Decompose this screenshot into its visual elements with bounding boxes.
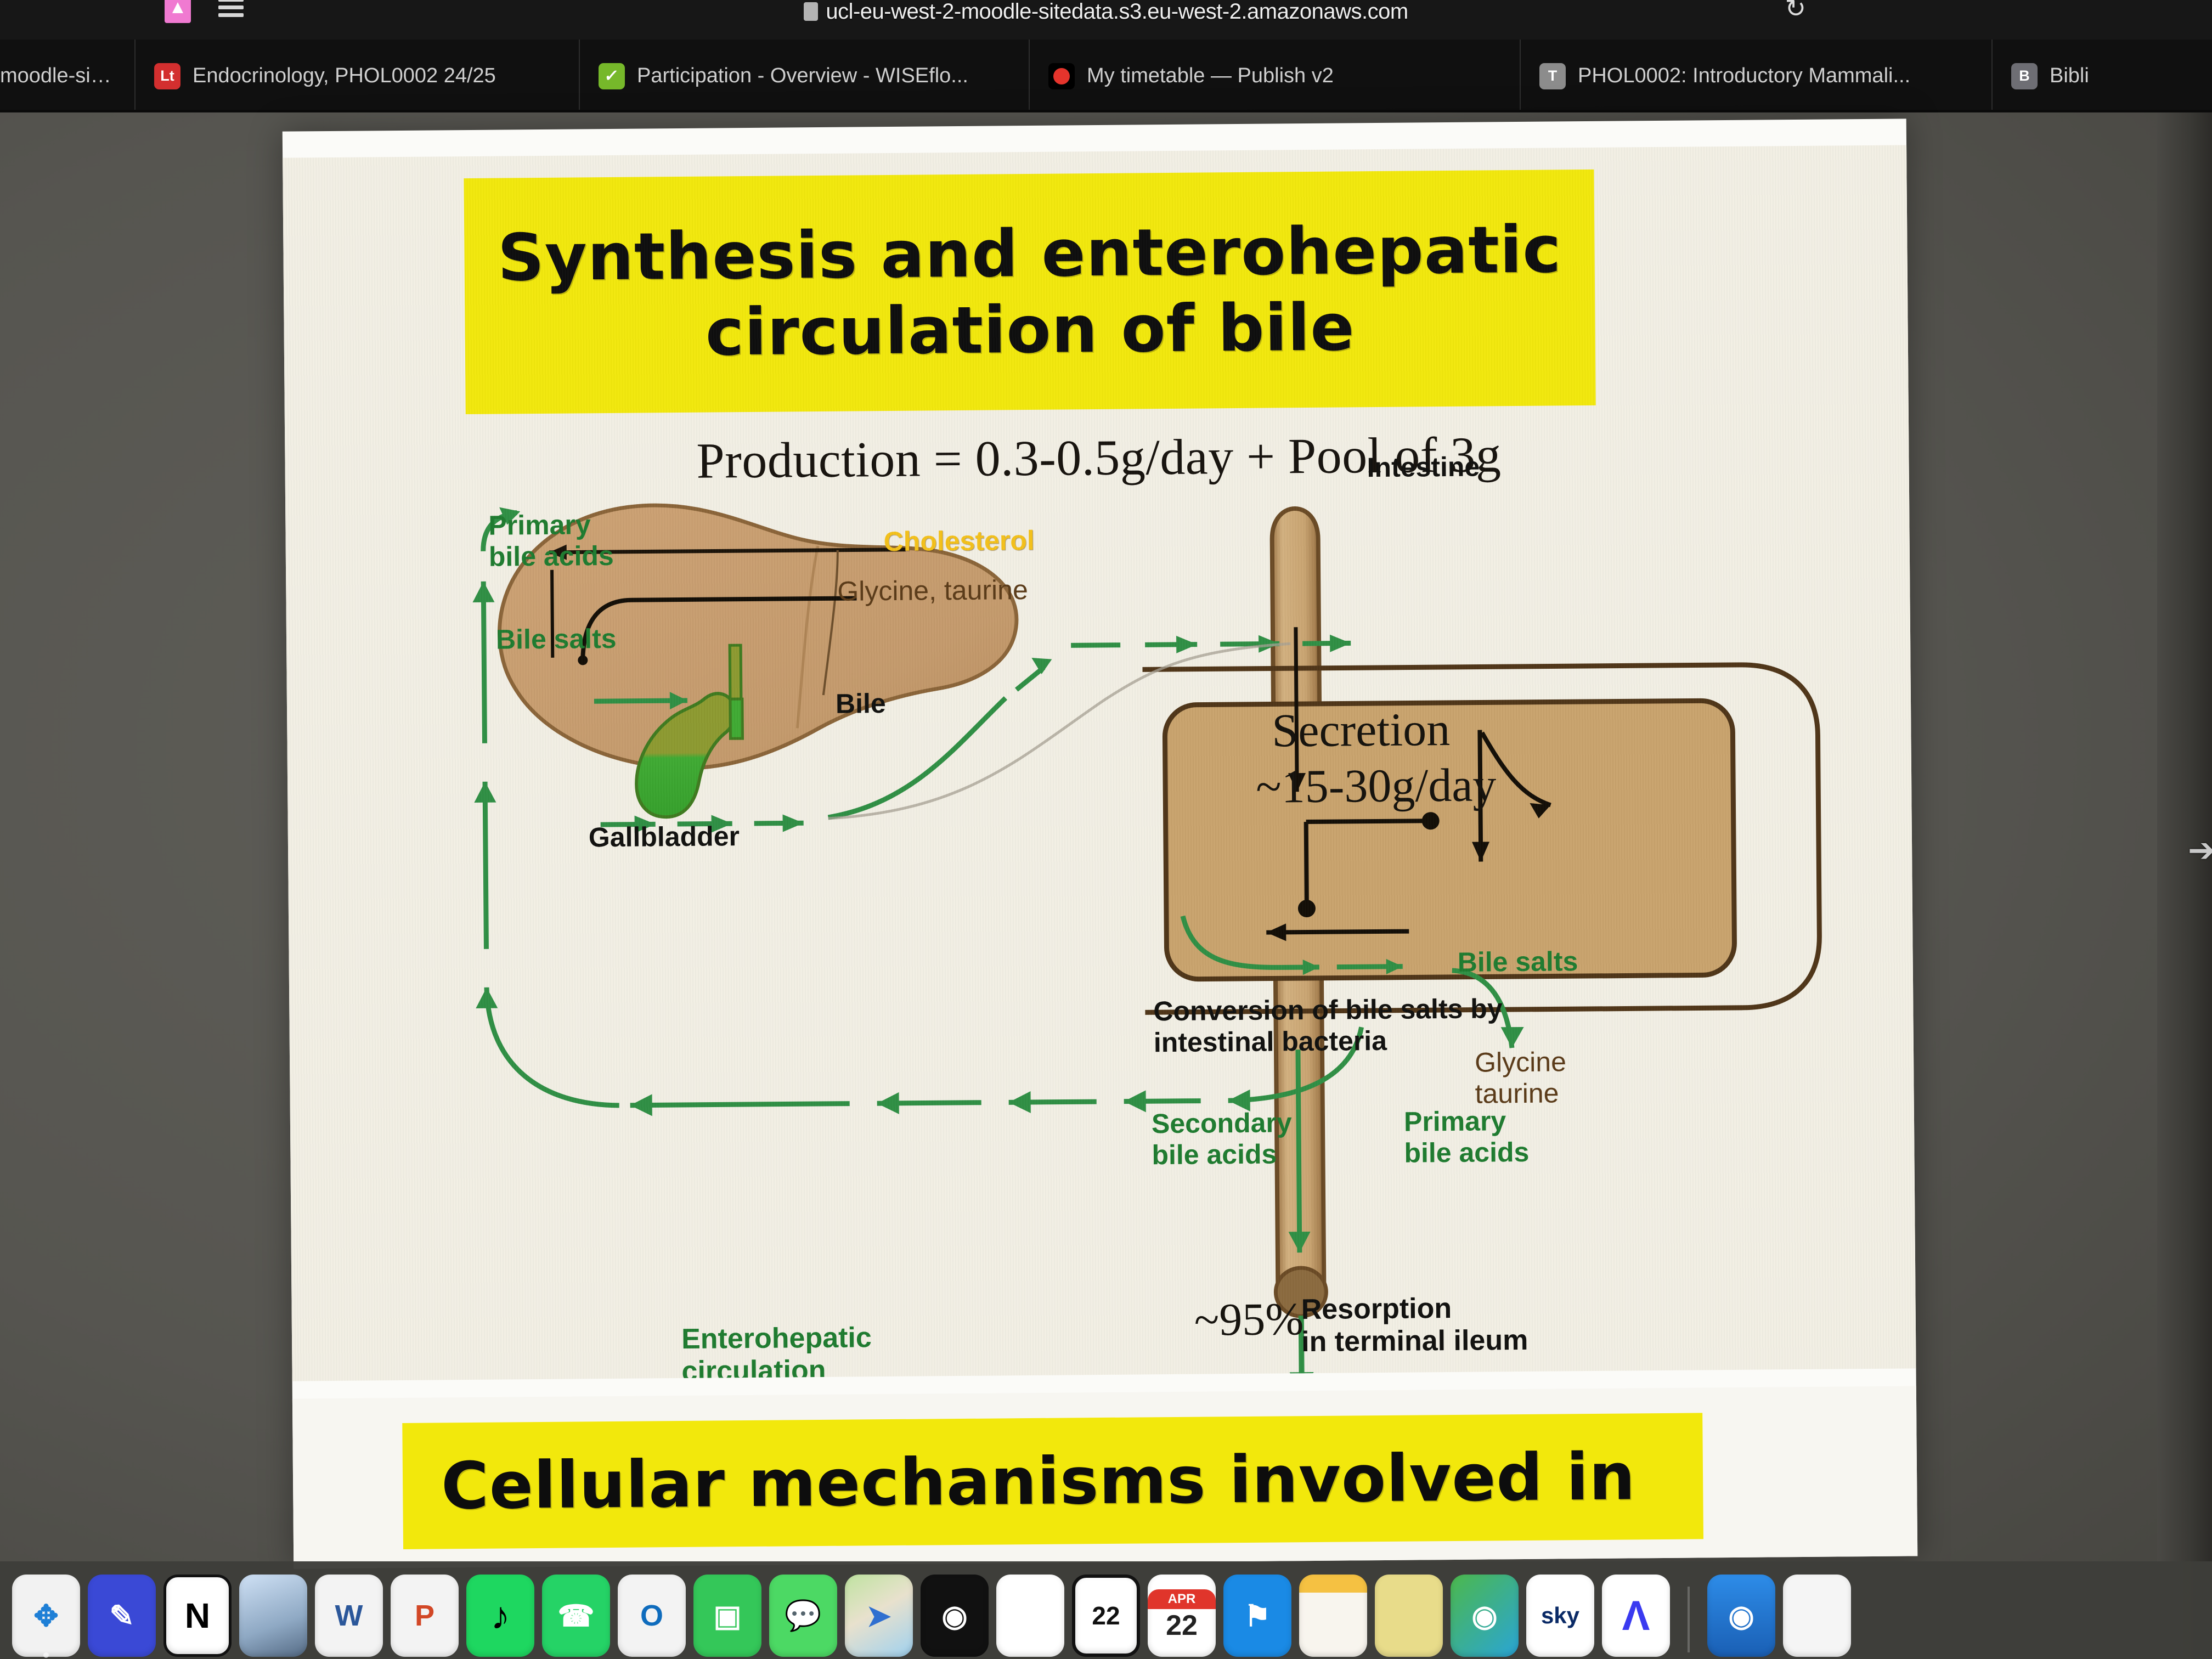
tab-strip: moodle-site... Lt Endocrinology, PHOL000… <box>0 39 2212 112</box>
tab-bibli[interactable]: B Bibli <box>1991 39 2212 112</box>
dock-item-app-store[interactable]: ⚑ <box>1223 1575 1291 1657</box>
label-glycine-taurine-left: Glycine, taurine <box>837 574 1028 607</box>
screen: ▲ ‹ ucl-eu-west-2-moodle-sitedata.s3.eu-… <box>0 0 2212 1659</box>
next-slide-title: Cellular mechanisms involved in <box>441 1438 1636 1523</box>
page-info-icon <box>804 2 818 21</box>
calendar-month: APR <box>1148 1589 1216 1609</box>
mouse-cursor: ➔ <box>2188 834 2212 867</box>
browser-chrome: ▲ ‹ ucl-eu-west-2-moodle-sitedata.s3.eu-… <box>0 0 2212 112</box>
dock-item-microsoft-powerpoint[interactable]: P <box>391 1575 459 1657</box>
label-conversion-by-bacteria: Conversion of bile salts by intestinal b… <box>1153 993 1503 1058</box>
dock-item-document[interactable] <box>1783 1575 1851 1657</box>
slide-title-line-1: Synthesis and enterohepatic <box>497 211 1561 296</box>
dock-item-photos[interactable]: ❂ <box>996 1575 1064 1657</box>
next-slide-title-banner: Cellular mechanisms involved in <box>402 1413 1703 1549</box>
reload-icon[interactable]: ↻ <box>1785 0 1806 23</box>
dock-item-facetime[interactable]: ▣ <box>693 1575 761 1657</box>
dock-item-podcasts[interactable]: ◉ <box>921 1575 989 1657</box>
dock-item-microsoft-outlook[interactable]: O <box>618 1575 686 1657</box>
label-glycine-taurine-right: Glycine taurine <box>1475 1046 1567 1109</box>
label-bile-salts-right: Bile salts <box>1457 946 1578 978</box>
label-primary-bile-acids-left: Primary bile acids <box>488 509 614 572</box>
dock-item-fantastical[interactable]: 22 <box>1072 1575 1140 1657</box>
lecturecast-icon: Lt <box>154 63 180 89</box>
bibli-b-icon: B <box>2011 63 2038 89</box>
label-secretion: Secretion <box>1272 703 1451 758</box>
label-resorption-ileum: Resorption in terminal ileum <box>1301 1292 1528 1358</box>
label-gallbladder: Gallbladder <box>589 821 740 853</box>
label-bile-salts-left: Bile salts <box>496 623 617 655</box>
dock-item-maps[interactable]: ➤ <box>845 1575 913 1657</box>
dock-item-calendar[interactable]: APR 22 <box>1148 1575 1216 1657</box>
pdf-page: Synthesis and enterohepatic circulation … <box>283 119 1917 1568</box>
tab-my-timetable[interactable]: My timetable — Publish v2 <box>1029 39 1520 112</box>
dock-item-notion[interactable]: N <box>163 1575 232 1657</box>
dock-item-finder[interactable]: ◉ <box>1707 1575 1775 1657</box>
dock-item-microsoft-teams[interactable]: ◉ <box>1451 1575 1519 1657</box>
tab-label: My timetable — Publish v2 <box>1087 64 1334 88</box>
moodle-t-icon: T <box>1539 63 1566 89</box>
timetable-icon <box>1048 63 1075 89</box>
label-cholesterol: Cholesterol <box>883 525 1034 557</box>
dock-item-preview[interactable] <box>239 1575 307 1657</box>
label-resorption-percent: ~95% <box>1194 1294 1304 1346</box>
slide-bile-circulation: Synthesis and enterohepatic circulation … <box>283 145 1916 1381</box>
tab-label: PHOL0002: Introductory Mammali... <box>1578 64 1910 88</box>
tab-label: Endocrinology, PHOL0002 24/25 <box>193 64 496 88</box>
dock-item-sky[interactable]: sky <box>1526 1575 1594 1657</box>
tab-participation-wiseflow[interactable]: ✓ Participation - Overview - WISEflo... <box>579 39 1029 112</box>
dock-item-whatsapp[interactable]: ☎ <box>542 1575 610 1657</box>
label-secondary-bile-acids: Secondary bile acids <box>1152 1107 1293 1170</box>
dock-item-spotify[interactable]: ♪ <box>466 1575 534 1657</box>
calendar-day: 22 <box>1166 1609 1198 1642</box>
wiseflow-check-icon: ✓ <box>599 63 625 89</box>
intestine-illustration <box>1141 464 1883 1352</box>
tab-phol0002-moodle[interactable]: T PHOL0002: Introductory Mammali... <box>1520 39 1991 112</box>
url-text: ucl-eu-west-2-moodle-sitedata.s3.eu-west… <box>826 0 1408 24</box>
dock-item-notes[interactable] <box>1299 1575 1367 1657</box>
monitor-bezel <box>2157 0 2212 1659</box>
slide-next-preview: Cellular mechanisms involved in <box>292 1386 1917 1568</box>
dock-item-messages[interactable]: 💬 <box>769 1575 837 1657</box>
tab-label: Bibli <box>2050 64 2089 88</box>
label-secretion-rate: ~15-30g/day <box>1256 758 1497 814</box>
dock-item-nordvpn[interactable]: Λ <box>1602 1575 1670 1657</box>
dock-divider <box>1688 1587 1690 1652</box>
label-enterohepatic-circulation: Enterohepatic circulation <box>681 1322 872 1381</box>
slide-title-banner: Synthesis and enterohepatic circulation … <box>464 170 1595 414</box>
tab-endocrinology[interactable]: Lt Endocrinology, PHOL0002 24/25 <box>134 39 579 112</box>
label-primary-bile-acids-right: Primary bile acids <box>1404 1105 1530 1169</box>
tab-label: moodle-site... <box>0 64 116 88</box>
dock-item-microsoft-word[interactable]: W <box>315 1575 383 1657</box>
dock-item-stickies[interactable] <box>1375 1575 1443 1657</box>
mac-dock: ✥ ✎ N W P ♪ ☎ O ▣ 💬 ➤ ◉ ❂ 22 APR 22 ⚑ ◉ … <box>0 1561 2212 1659</box>
label-bile: Bile <box>836 688 886 719</box>
tab-moodle-site[interactable]: moodle-site... <box>0 39 134 112</box>
address-bar[interactable]: ucl-eu-west-2-moodle-sitedata.s3.eu-west… <box>0 0 2212 27</box>
tab-label: Participation - Overview - WISEflo... <box>637 64 968 88</box>
dock-item-safari[interactable]: ✥ <box>12 1575 80 1657</box>
dock-item-notes-pencil[interactable]: ✎ <box>88 1575 156 1657</box>
label-intestine: Intestine <box>1367 452 1480 483</box>
slide-title-line-2: circulation of bile <box>705 289 1355 371</box>
